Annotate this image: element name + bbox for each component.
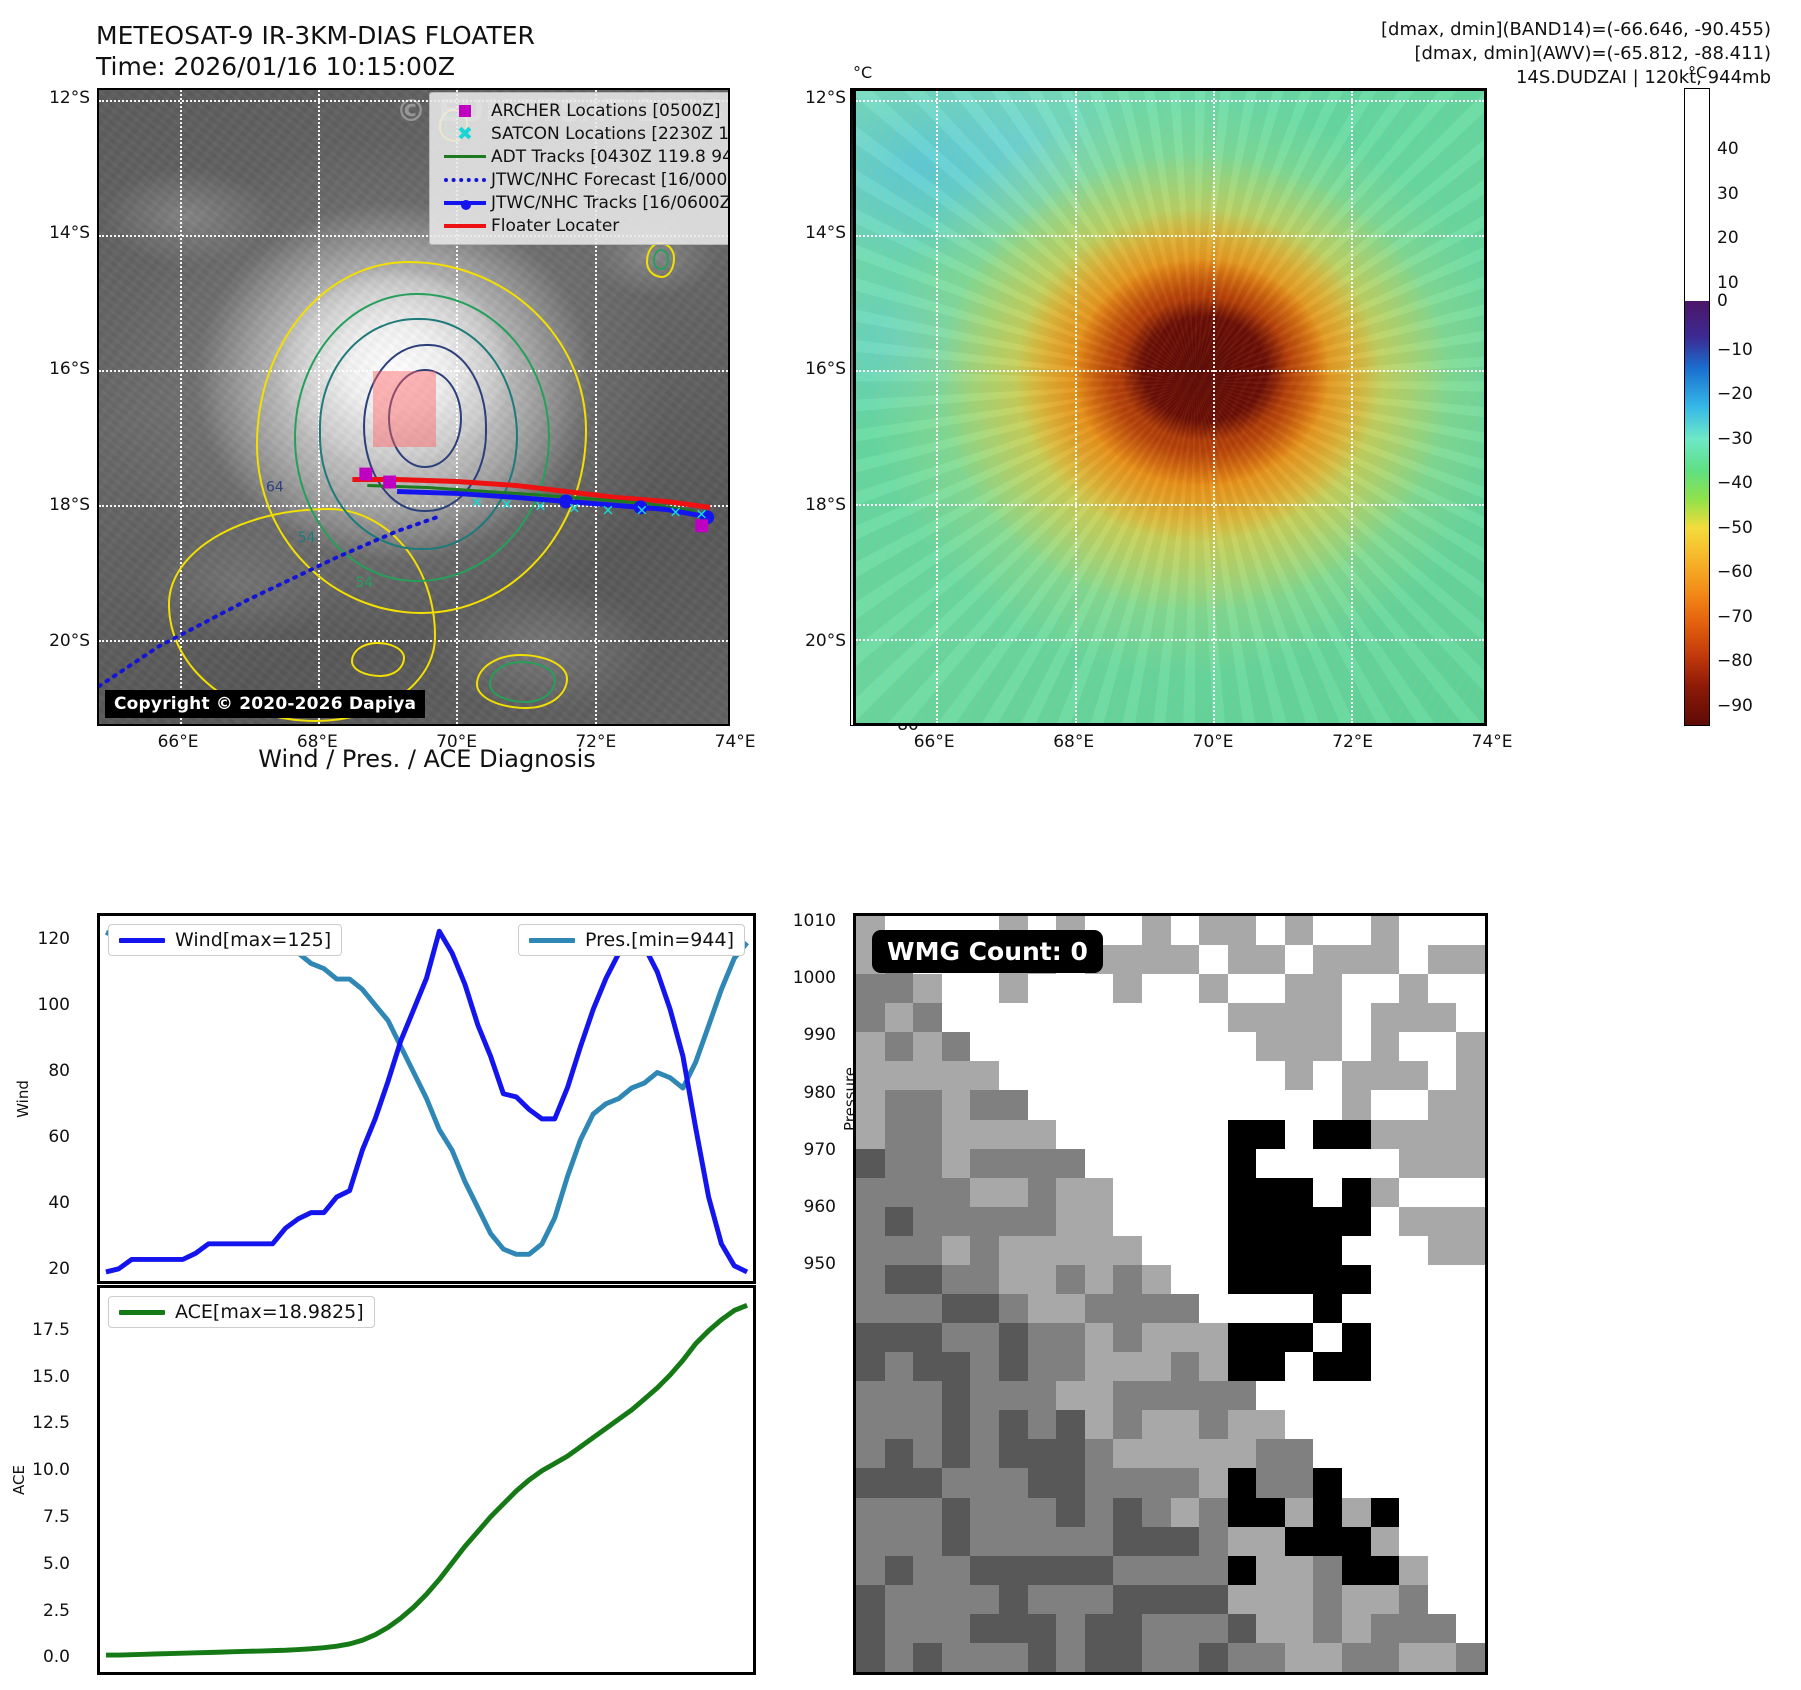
wmg-cell xyxy=(1171,1294,1200,1324)
wmg-cell xyxy=(1256,1003,1285,1033)
wmg-cell xyxy=(1371,1294,1400,1324)
wmg-cell xyxy=(1056,1556,1085,1586)
storm-id-intensity: 14S.DUDZAI | 120kt, 944mb xyxy=(1381,66,1771,90)
wmg-cell xyxy=(913,1410,942,1440)
wmg-cell xyxy=(913,1090,942,1120)
wmg-cell xyxy=(1456,1585,1485,1615)
wmg-cell xyxy=(1171,1468,1200,1498)
ace-axis-title: ACE xyxy=(10,1465,28,1495)
wmg-cell xyxy=(1028,1585,1057,1615)
y-tick: 12°S xyxy=(49,88,90,108)
wmg-cell xyxy=(913,1614,942,1644)
wmg-cell xyxy=(913,1585,942,1615)
enhanced-ir-map[interactable] xyxy=(853,88,1487,726)
y-tick: 80 xyxy=(48,1061,70,1081)
wmg-cell xyxy=(1228,974,1257,1004)
wmg-cell xyxy=(1428,1178,1457,1208)
wmg-cell xyxy=(1456,1468,1485,1498)
wmg-cell xyxy=(1256,1527,1285,1557)
wmg-cell xyxy=(999,1236,1028,1266)
wmg-cell xyxy=(1428,1090,1457,1120)
wmg-cell xyxy=(1056,1090,1085,1120)
wmg-cell xyxy=(1371,1178,1400,1208)
wmg-cell xyxy=(1256,1352,1285,1382)
wmg-cell xyxy=(970,1265,999,1295)
wmg-cell xyxy=(942,1032,971,1062)
svg-text:✕: ✕ xyxy=(695,505,707,523)
wmg-cell xyxy=(1228,1265,1257,1295)
wmg-cell xyxy=(1085,1439,1114,1469)
y-tick: 16°S xyxy=(49,359,90,379)
wmg-cell xyxy=(1399,916,1428,946)
wmg-cell xyxy=(1228,1323,1257,1353)
wmg-cell xyxy=(999,1207,1028,1237)
wmg-cell xyxy=(970,1585,999,1615)
wmg-cell xyxy=(1371,974,1400,1004)
wmg-cell xyxy=(1085,1527,1114,1557)
wind-pressure-chart[interactable]: Wind[max=125] Pres.[min=944] xyxy=(97,913,756,1284)
wmg-cell xyxy=(1456,945,1485,975)
wmg-cell xyxy=(1256,1061,1285,1091)
wmg-cell xyxy=(970,974,999,1004)
wmg-cell xyxy=(1342,1410,1371,1440)
legend-label: ADT Tracks [0430Z 119.8 943.8] xyxy=(491,147,730,167)
wmg-cell xyxy=(1256,1410,1285,1440)
wmg-cell xyxy=(1428,1149,1457,1179)
y-tick: 16°S xyxy=(805,359,846,379)
wmg-cell xyxy=(1113,1265,1142,1295)
wmg-cell xyxy=(1313,1585,1342,1615)
wmg-cell xyxy=(1228,1236,1257,1266)
wmg-cell xyxy=(1285,1120,1314,1150)
wmg-cell xyxy=(1171,974,1200,1004)
wmg-cell xyxy=(856,1207,885,1237)
wmg-cell xyxy=(942,1265,971,1295)
wmg-cell xyxy=(1142,974,1171,1004)
y-tick: 0.0 xyxy=(43,1647,70,1667)
y-tick: 120 xyxy=(38,929,70,949)
wmg-cell xyxy=(1456,1236,1485,1266)
wmg-cell xyxy=(1228,1352,1257,1382)
wmg-cell xyxy=(970,1207,999,1237)
wmg-cell xyxy=(856,1265,885,1295)
wmg-cell xyxy=(1256,916,1285,946)
legend-item[interactable]: Floater Locater xyxy=(439,214,730,237)
wmg-cell xyxy=(999,1120,1028,1150)
ir-panel-title: METEOSAT-9 IR-3KM-DIAS FLOATER Time: 202… xyxy=(96,20,736,82)
wmg-cell xyxy=(856,1149,885,1179)
wmg-cell xyxy=(1399,1061,1428,1091)
wmg-cell xyxy=(1056,1468,1085,1498)
wmg-cell xyxy=(1313,1323,1342,1353)
wmg-cell xyxy=(1113,1527,1142,1557)
wmg-cell xyxy=(856,1120,885,1150)
wmg-cell xyxy=(1342,1439,1371,1469)
wmg-cell xyxy=(970,1061,999,1091)
wmg-cell xyxy=(1142,1556,1171,1586)
wmg-cell xyxy=(999,1090,1028,1120)
wmg-cell xyxy=(970,1527,999,1557)
wmg-cell xyxy=(942,1439,971,1469)
wmg-cell xyxy=(1285,1498,1314,1528)
wmg-cell xyxy=(1199,1614,1228,1644)
y-tick: 7.5 xyxy=(43,1507,70,1527)
wmg-cell xyxy=(1285,1527,1314,1557)
wmg-cell xyxy=(1313,1120,1342,1150)
y-tick: 5.0 xyxy=(43,1554,70,1574)
wmg-cell xyxy=(970,1323,999,1353)
colorbar-tick: −70 xyxy=(1709,607,1753,627)
wmg-cell xyxy=(885,1178,914,1208)
wmg-cell xyxy=(1313,1061,1342,1091)
wmg-cell xyxy=(1342,1032,1371,1062)
wmg-cell xyxy=(885,1439,914,1469)
wmg-cell xyxy=(1142,1061,1171,1091)
wmg-cell xyxy=(1371,1643,1400,1673)
legend-item[interactable]: ARCHER Locations [0500Z] xyxy=(439,99,730,122)
legend-item[interactable]: JTWC/NHC Forecast [16/0000Z] xyxy=(439,168,730,191)
wmg-cell xyxy=(1428,1410,1457,1440)
wmg-cell xyxy=(1085,974,1114,1004)
wmg-cell xyxy=(1028,1120,1057,1150)
colorbar-tick: 20 xyxy=(1709,228,1739,248)
wmg-cell xyxy=(1199,1032,1228,1062)
wmg-cell xyxy=(1342,1527,1371,1557)
colorbar-tick: −20 xyxy=(1709,384,1753,404)
wmg-cell xyxy=(1142,1585,1171,1615)
wmg-cell xyxy=(1342,1585,1371,1615)
y2-tick: 1000 xyxy=(793,968,836,988)
wmg-cell xyxy=(1256,1265,1285,1295)
wmg-cell xyxy=(1428,1294,1457,1324)
pressure-legend[interactable]: Pres.[min=944] xyxy=(518,924,745,956)
wmg-cell xyxy=(1428,1614,1457,1644)
x-marker-icon: ✖ xyxy=(439,128,491,140)
wmg-cell xyxy=(1142,945,1171,975)
wmg-cell xyxy=(1399,1090,1428,1120)
colorbar-tick: 0 xyxy=(1709,291,1728,311)
svg-text:✕: ✕ xyxy=(471,493,483,511)
wmg-cell xyxy=(1142,1090,1171,1120)
wmg-cell xyxy=(1056,1643,1085,1673)
wmg-cell xyxy=(913,974,942,1004)
wmg-cell xyxy=(1142,1381,1171,1411)
wmg-cell xyxy=(913,1439,942,1469)
wind-y-axis: 120 100 80 60 40 20 Wind xyxy=(0,913,94,1284)
wmg-cell xyxy=(1028,1527,1057,1557)
wmg-cell xyxy=(1371,1003,1400,1033)
wmg-cell xyxy=(856,1498,885,1528)
legend-label: SATCON Locations [2230Z 104 960] xyxy=(491,124,730,144)
wmg-cell xyxy=(1113,1410,1142,1440)
wmg-cell xyxy=(1056,1032,1085,1062)
wmg-cell xyxy=(999,1439,1028,1469)
wmg-cell xyxy=(1456,1120,1485,1150)
ir-y-axis: 12°S 14°S 16°S 18°S 20°S xyxy=(0,88,90,726)
wmg-cell xyxy=(1428,1498,1457,1528)
wmg-cell xyxy=(942,1149,971,1179)
wmg-cell xyxy=(970,1614,999,1644)
wmg-cell xyxy=(913,1381,942,1411)
wmg-cell xyxy=(1228,1061,1257,1091)
wmg-cell xyxy=(1228,1090,1257,1120)
legend-item[interactable]: ✖ SATCON Locations [2230Z 104 960] xyxy=(439,122,730,145)
wmg-cell xyxy=(1028,1061,1057,1091)
wmg-cell xyxy=(1371,1527,1400,1557)
wmg-cell xyxy=(856,1294,885,1324)
wmg-cell xyxy=(1342,1556,1371,1586)
wmg-cell xyxy=(999,1149,1028,1179)
wmg-cell xyxy=(1113,945,1142,975)
wmg-cell xyxy=(1056,1410,1085,1440)
wmg-cell xyxy=(1342,1323,1371,1353)
wmg-cell xyxy=(1342,1120,1371,1150)
wmg-cell xyxy=(1056,1178,1085,1208)
diagnosis-title: Wind / Pres. / ACE Diagnosis xyxy=(97,745,757,773)
wmg-cell xyxy=(1028,1294,1057,1324)
wmg-cell xyxy=(1228,916,1257,946)
wmg-cell xyxy=(970,1556,999,1586)
legend-item[interactable]: JTWC/NHC Tracks [16/0600Z] xyxy=(439,191,730,214)
wmg-cell xyxy=(885,1585,914,1615)
colorbar-tick: −90 xyxy=(1709,696,1753,716)
wmg-cell xyxy=(970,1381,999,1411)
wmg-cell xyxy=(970,1294,999,1324)
wmg-cell xyxy=(1199,1352,1228,1382)
wmg-cell xyxy=(942,1323,971,1353)
wmg-cell xyxy=(970,1120,999,1150)
legend-label: JTWC/NHC Forecast [16/0000Z] xyxy=(491,170,730,190)
wmg-cell xyxy=(885,1149,914,1179)
wmg-cell xyxy=(1256,1381,1285,1411)
wmg-cell xyxy=(1371,1090,1400,1120)
wmg-cell xyxy=(1142,1120,1171,1150)
y-tick: 12°S xyxy=(805,88,846,108)
solid-line-icon xyxy=(439,155,491,158)
wmg-cell xyxy=(1142,916,1171,946)
wmg-cell xyxy=(1428,1265,1457,1295)
wmg-cell xyxy=(1171,1323,1200,1353)
wmg-cell xyxy=(1142,1265,1171,1295)
line-with-dot-icon xyxy=(439,201,491,205)
wmg-cell xyxy=(1085,1149,1114,1179)
wmg-cell xyxy=(999,1381,1028,1411)
wmg-cell xyxy=(1399,1294,1428,1324)
wmg-cell xyxy=(1199,974,1228,1004)
wmg-cell xyxy=(1428,1468,1457,1498)
wmg-cell xyxy=(913,1527,942,1557)
wmg-cell xyxy=(1256,1498,1285,1528)
wmg-cell xyxy=(999,1556,1028,1586)
pressure-legend-label: Pres.[min=944] xyxy=(585,929,734,951)
enhanced-colorbar: 40 30 20 10 0 −10 −20 −30 −40 −50 −60 −7… xyxy=(1684,88,1710,726)
wmg-cell xyxy=(1456,1207,1485,1237)
wmg-cell xyxy=(1256,1556,1285,1586)
wmg-cell xyxy=(999,1410,1028,1440)
ace-chart[interactable]: ACE[max=18.9825] xyxy=(97,1285,756,1675)
wmg-cell xyxy=(1399,1352,1428,1382)
wmg-cell xyxy=(1199,1003,1228,1033)
wmg-cell xyxy=(1313,1439,1342,1469)
square-marker-icon xyxy=(439,105,491,117)
wmg-cell xyxy=(1456,1003,1485,1033)
wmg-cell xyxy=(942,1003,971,1033)
wmg-cell xyxy=(1342,1294,1371,1324)
wmg-cell xyxy=(1056,1003,1085,1033)
wmg-cell xyxy=(1171,1120,1200,1150)
wmg-cell xyxy=(970,1032,999,1062)
wmg-cell xyxy=(1313,1643,1342,1673)
wmg-cell xyxy=(970,1410,999,1440)
wmg-cell xyxy=(913,1498,942,1528)
wmg-cell xyxy=(1199,1178,1228,1208)
wmg-cell xyxy=(999,1032,1028,1062)
svg-text:✕: ✕ xyxy=(669,503,681,521)
wmg-cell xyxy=(1085,1090,1114,1120)
enhanced-y-axis: 12°S 14°S 16°S 18°S 20°S xyxy=(756,88,846,726)
wmg-cell xyxy=(1285,916,1314,946)
wmg-cell xyxy=(913,1556,942,1586)
wmg-cell xyxy=(1199,1323,1228,1353)
ir-title-line1: METEOSAT-9 IR-3KM-DIAS FLOATER xyxy=(96,20,736,51)
wmg-cell xyxy=(1256,1614,1285,1644)
solid-line-icon xyxy=(439,224,491,228)
wmg-cell xyxy=(1228,1468,1257,1498)
wmg-cell xyxy=(1028,1032,1057,1062)
wmg-cell xyxy=(1028,1498,1057,1528)
wmg-cell xyxy=(856,1439,885,1469)
wmg-cell xyxy=(885,1381,914,1411)
wmg-cell xyxy=(1171,916,1200,946)
wmg-cell xyxy=(1342,1614,1371,1644)
wmg-cell xyxy=(1113,1236,1142,1266)
dotted-line-icon xyxy=(439,178,491,182)
y-tick: 14°S xyxy=(805,223,846,243)
wmg-cell xyxy=(1228,1643,1257,1673)
wmg-cell xyxy=(1199,1090,1228,1120)
wmg-cell xyxy=(1456,1498,1485,1528)
wmg-cell xyxy=(1285,1614,1314,1644)
wmg-cell xyxy=(1028,1381,1057,1411)
wmg-cell xyxy=(1285,1381,1314,1411)
wmg-cell xyxy=(1399,1585,1428,1615)
wmg-cell xyxy=(856,1061,885,1091)
wmg-cell xyxy=(1028,1090,1057,1120)
y-tick: 15.0 xyxy=(32,1367,70,1387)
wmg-cell xyxy=(1199,1236,1228,1266)
wmg-cell xyxy=(1371,1032,1400,1062)
wmg-cell xyxy=(1256,1468,1285,1498)
wmg-cell xyxy=(1313,1352,1342,1382)
wmg-cell xyxy=(942,1381,971,1411)
wmg-cell xyxy=(999,1323,1028,1353)
wmg-cell xyxy=(1428,1527,1457,1557)
wmg-cell xyxy=(942,1090,971,1120)
x-tick: 72°E xyxy=(1332,732,1373,752)
wmg-cell xyxy=(1371,1410,1400,1440)
wmg-cell xyxy=(1428,1643,1457,1673)
wmg-cell xyxy=(1428,1236,1457,1266)
wmg-cell xyxy=(1399,1003,1428,1033)
wmg-cell xyxy=(1142,1236,1171,1266)
wmg-cell xyxy=(1028,1236,1057,1266)
wmg-cell xyxy=(1113,1439,1142,1469)
y2-tick: 950 xyxy=(804,1254,836,1274)
wmg-cell xyxy=(1085,1410,1114,1440)
wmg-cell xyxy=(1285,1207,1314,1237)
wmg-cell xyxy=(1285,1468,1314,1498)
dmax-dmin-awv: [dmax, dmin](AWV)=(-65.812, -88.411) xyxy=(1381,42,1771,66)
wmg-cell xyxy=(1056,1352,1085,1382)
wmg-cell xyxy=(1028,1352,1057,1382)
wmg-cell xyxy=(1085,1265,1114,1295)
wmg-cell xyxy=(1142,1614,1171,1644)
wmg-cell xyxy=(1199,1556,1228,1586)
wmg-cell xyxy=(1342,1003,1371,1033)
wmg-cell xyxy=(1313,1410,1342,1440)
wmg-cell xyxy=(1142,1003,1171,1033)
wmg-cell xyxy=(1113,1003,1142,1033)
enhanced-panel-header: [dmax, dmin](BAND14)=(-66.646, -90.455) … xyxy=(1381,18,1771,90)
wmg-cell xyxy=(856,1556,885,1586)
wmg-cell xyxy=(970,1352,999,1382)
wmg-mosaic-panel[interactable]: WMG Count: 0 xyxy=(853,913,1488,1675)
wmg-cell xyxy=(1371,1585,1400,1615)
wmg-cell xyxy=(1228,1294,1257,1324)
wmg-cell xyxy=(1028,1323,1057,1353)
ir-floater-map[interactable]: ✕✕✕ ✕✕✕ ✕✕ 64 54 54 © EUMETSAT 2026 ARCH… xyxy=(97,88,730,726)
wmg-cell xyxy=(1285,1643,1314,1673)
colorbar-tick: −50 xyxy=(1709,518,1753,538)
wmg-cell xyxy=(885,974,914,1004)
wmg-cell xyxy=(970,1468,999,1498)
wmg-cell xyxy=(1113,1498,1142,1528)
wmg-cell xyxy=(1371,1498,1400,1528)
wmg-cell xyxy=(1428,1585,1457,1615)
wmg-cell xyxy=(942,1643,971,1673)
wmg-cell xyxy=(885,1120,914,1150)
legend-item[interactable]: ADT Tracks [0430Z 119.8 943.8] xyxy=(439,145,730,168)
wmg-cell xyxy=(885,1468,914,1498)
wmg-cell xyxy=(1142,1352,1171,1382)
wmg-cell xyxy=(1228,1120,1257,1150)
pressure-line-icon xyxy=(529,938,575,943)
wmg-cell xyxy=(1428,1439,1457,1469)
wmg-cell xyxy=(1313,1178,1342,1208)
wmg-cell xyxy=(1456,1149,1485,1179)
wmg-cell xyxy=(1085,1643,1114,1673)
wmg-cell xyxy=(856,1003,885,1033)
wmg-cell xyxy=(1371,1061,1400,1091)
wmg-cell xyxy=(1313,1265,1342,1295)
wmg-cell xyxy=(1399,1032,1428,1062)
wmg-cell xyxy=(1456,1381,1485,1411)
wmg-cell xyxy=(856,1236,885,1266)
wmg-cell xyxy=(885,1614,914,1644)
wmg-cell xyxy=(942,1614,971,1644)
wmg-cell xyxy=(942,1585,971,1615)
wmg-cell xyxy=(1399,1439,1428,1469)
wind-pressure-plot xyxy=(100,916,753,1281)
ace-legend[interactable]: ACE[max=18.9825] xyxy=(108,1296,375,1328)
wind-legend[interactable]: Wind[max=125] xyxy=(108,924,342,956)
y2-tick: 1010 xyxy=(793,911,836,931)
wmg-cell xyxy=(1113,1207,1142,1237)
wmg-cell xyxy=(1313,1556,1342,1586)
wmg-cell xyxy=(1085,1468,1114,1498)
wmg-cell xyxy=(1428,1032,1457,1062)
wmg-cell xyxy=(1285,1352,1314,1382)
